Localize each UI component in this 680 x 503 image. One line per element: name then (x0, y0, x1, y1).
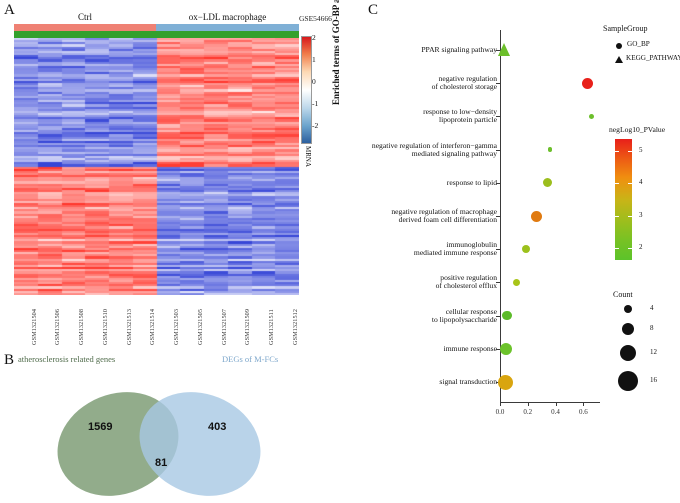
count-legend-label: 12 (650, 348, 657, 356)
x-axis-label: 0.0 (487, 408, 513, 416)
data-point-gobp (548, 147, 553, 152)
venn-label-right: DEGs of M-FCs (222, 354, 278, 364)
pvalue-tick-mark (615, 151, 619, 152)
panel-b-venn: atherosclerosis related genes DEGs of M-… (0, 352, 340, 503)
y-axis-tick (496, 282, 501, 283)
pvalue-tick-mark (615, 248, 619, 249)
x-axis-label: 0.2 (515, 408, 541, 416)
sample-label: GSM1321510 (102, 309, 109, 345)
term-label: response to low−density lipoprotein part… (423, 108, 497, 124)
x-axis-label: 0.4 (543, 408, 569, 416)
x-axis-label: 0.6 (570, 408, 596, 416)
sample-label: GSM1321505 (197, 309, 204, 345)
annotation-bar-series (14, 31, 299, 38)
count-legend-dot (622, 323, 634, 335)
term-label: negative regulation of macrophage derive… (391, 208, 497, 224)
heatmap (14, 38, 299, 295)
x-axis-tick (583, 402, 584, 406)
x-axis-tick (528, 402, 529, 406)
group-title-oxldl: ox−LDL macrophage (156, 12, 299, 22)
sample-label: GSM1321514 (149, 309, 156, 345)
y-axis-tick (496, 116, 501, 117)
term-label: signal transduction (439, 378, 497, 386)
data-point-kegg (498, 43, 510, 56)
group-title-ctrl: Ctrl (14, 12, 156, 22)
pvalue-tick-mark (628, 216, 632, 217)
count-legend-label: 4 (650, 304, 654, 312)
annotation-bar-group-2 (156, 24, 299, 31)
heatmap-canvas (14, 38, 299, 295)
term-label: negative regulation of cholesterol stora… (432, 75, 497, 91)
term-label: immune response (444, 345, 497, 353)
sample-label: GSM1321513 (126, 309, 133, 345)
count-legend-dot (624, 305, 632, 313)
sample-label: GSM1321503 (173, 309, 180, 345)
term-label: response to lipid (447, 179, 497, 187)
pvalue-tick-label: 4 (639, 178, 643, 186)
term-label: PPAR signaling pathway (421, 46, 497, 54)
venn-diagram (0, 368, 340, 503)
venn-count-left: 1569 (88, 421, 112, 433)
sample-label: GSM1321511 (268, 309, 275, 345)
term-label: immunoglobulin mediated immune response (414, 241, 497, 257)
data-point-gobp (502, 311, 512, 321)
term-label: cellular response to lipopolysaccharide (432, 308, 497, 324)
annotation-bar-group (14, 24, 156, 31)
legend-samplegroup-gobp: GO_BP (627, 40, 650, 48)
y-axis-tick (496, 216, 501, 217)
colorbar-tick: -1 (312, 99, 318, 108)
term-label: positive regulation of cholesterol efflu… (436, 274, 497, 290)
pvalue-tick-mark (615, 183, 619, 184)
legend-samplegroup-kegg: KEGG_PATHWAY (626, 54, 680, 62)
y-axis-tick (496, 316, 501, 317)
pvalue-tick-label: 3 (639, 211, 643, 219)
data-point-gobp (498, 375, 513, 390)
panel-c-x-axis-line (500, 402, 600, 403)
venn-count-intersection: 81 (155, 457, 167, 469)
count-legend-dot (620, 345, 636, 361)
data-point-gobp (543, 178, 552, 187)
heatmap-colorbar (301, 36, 312, 144)
legend-triangle-icon (615, 56, 623, 63)
x-axis-tick (556, 402, 557, 406)
colorbar-tick: 2 (312, 33, 316, 42)
venn-count-right: 403 (208, 421, 226, 433)
sample-label: GSM1321512 (292, 309, 299, 345)
sample-label: GSM1321509 (244, 309, 251, 345)
data-point-gobp (513, 279, 520, 286)
pvalue-tick-mark (615, 216, 619, 217)
count-legend-label: 16 (650, 376, 657, 384)
legend-samplegroup-title: SampleGroup (603, 24, 647, 33)
pvalue-tick-mark (628, 248, 632, 249)
sample-label: GSM1321506 (54, 309, 61, 345)
y-axis-tick (496, 249, 501, 250)
count-legend-dot (618, 371, 638, 391)
legend-pvalue-colorbar (615, 139, 632, 260)
venn-label-left: atherosclerosis related genes (18, 354, 115, 364)
y-axis-tick (496, 150, 501, 151)
colorbar-tick: 1 (312, 55, 316, 64)
data-point-gobp (500, 343, 512, 355)
panel-a-heatmap: Ctrl ox−LDL macrophage GSE54666 2 1 0 -1… (0, 0, 340, 350)
legend-circle-icon (616, 43, 622, 49)
pvalue-tick-label: 2 (639, 243, 643, 251)
x-axis-tick (500, 402, 501, 406)
colorbar-tick: 0 (312, 77, 316, 86)
colorbar-tick: -2 (312, 121, 318, 130)
colorbar-title: MRNA (304, 146, 312, 167)
sample-label: GSM1321504 (31, 309, 38, 345)
pvalue-tick-mark (628, 151, 632, 152)
pvalue-tick-mark (628, 183, 632, 184)
count-legend-label: 8 (650, 324, 654, 332)
term-label: negative regulation of interferon−gamma … (372, 142, 497, 158)
dataset-label: GSE54666 (299, 14, 332, 23)
y-axis-tick (496, 183, 501, 184)
legend-count-title: Count (613, 290, 633, 299)
panel-c-y-axis-title: Enriched terms of GO-BP and KEGG pathway (331, 0, 341, 105)
y-axis-tick (496, 83, 501, 84)
data-point-gobp (531, 211, 542, 222)
data-point-gobp (582, 78, 593, 89)
pvalue-tick-label: 5 (639, 146, 643, 154)
legend-pvalue-title: negLog10_PValue (609, 125, 665, 134)
sample-label: GSM1321507 (221, 309, 228, 345)
sample-label: GSM1321508 (78, 309, 85, 345)
